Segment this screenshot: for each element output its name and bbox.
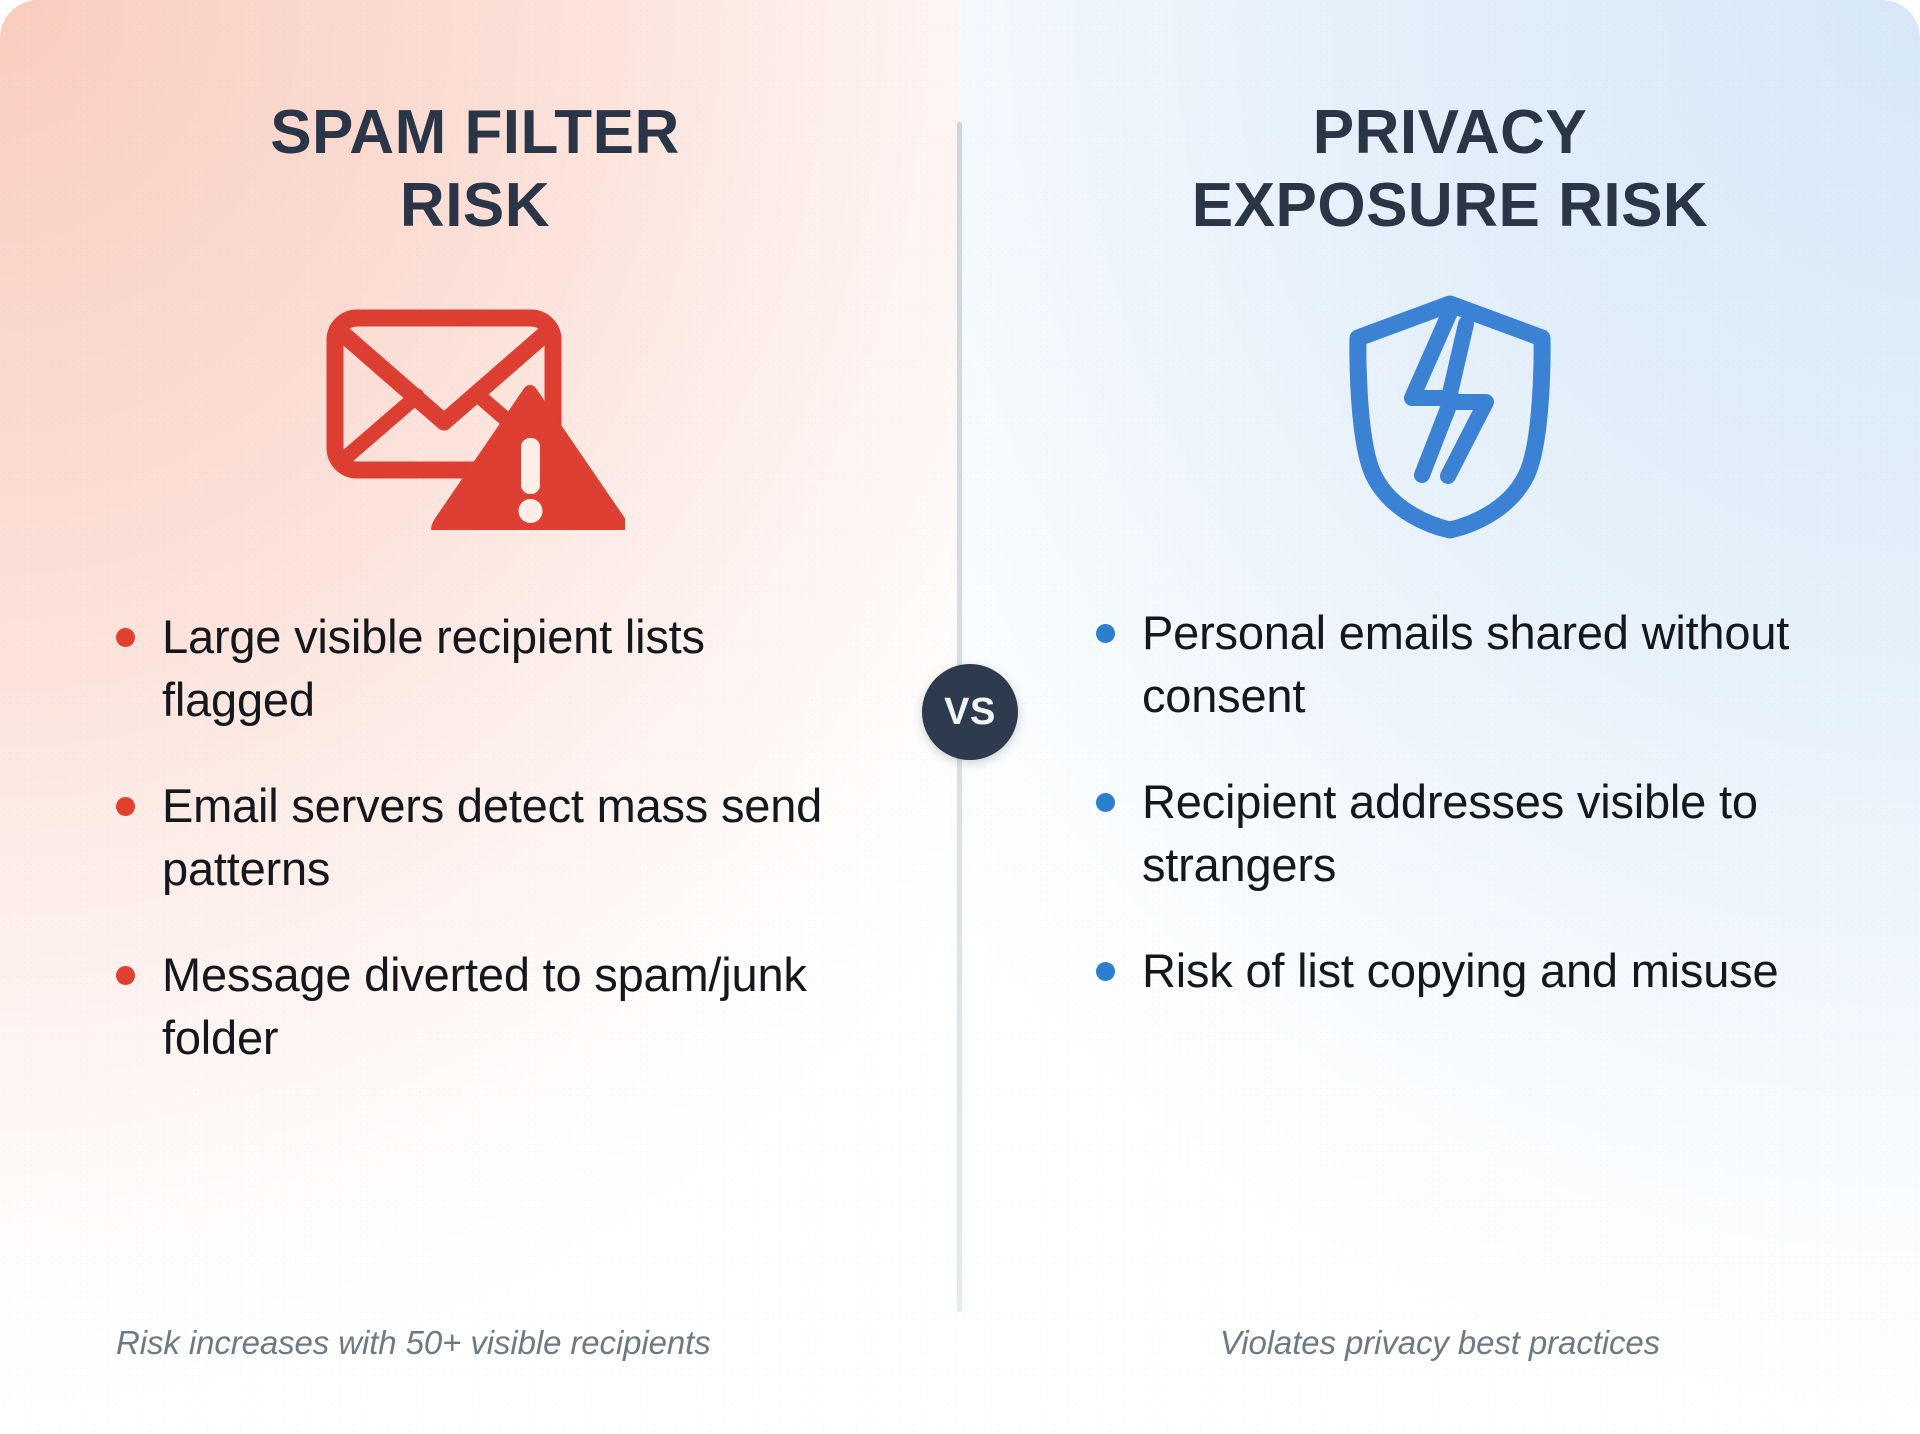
right-bullet-list: Personal emails shared without consent R… xyxy=(1090,602,1810,1003)
comparison-infographic: SPAM FILTER RISK Large visible recipi xyxy=(0,0,1920,1434)
bullet-dot-icon xyxy=(116,966,135,985)
list-item: Large visible recipient lists flagged xyxy=(110,606,840,731)
bullet-dot-icon xyxy=(1096,624,1115,643)
bullet-dot-icon xyxy=(116,797,135,816)
left-footnote: Risk increases with 50+ visible recipien… xyxy=(116,1324,711,1362)
bullet-dot-icon xyxy=(1096,962,1115,981)
bullet-text: Large visible recipient lists flagged xyxy=(162,610,705,726)
left-bullet-list: Large visible recipient lists flagged Em… xyxy=(110,606,840,1069)
list-item: Personal emails shared without consent xyxy=(1090,602,1810,727)
left-column-heading: SPAM FILTER RISK xyxy=(270,96,680,242)
right-footnote: Violates privacy best practices xyxy=(960,1324,1920,1362)
list-item: Message diverted to spam/junk folder xyxy=(110,944,840,1069)
bullet-dot-icon xyxy=(116,628,135,647)
bullet-text: Personal emails shared without consent xyxy=(1142,606,1789,722)
bullet-dot-icon xyxy=(1096,793,1115,812)
bullet-text: Email servers detect mass send patterns xyxy=(162,779,822,895)
bullet-text: Message diverted to spam/junk folder xyxy=(162,948,807,1064)
right-column-heading: PRIVACY EXPOSURE RISK xyxy=(1192,96,1708,242)
vs-badge: VS xyxy=(922,664,1018,760)
bullet-text: Recipient addresses visible to strangers xyxy=(1142,775,1758,891)
bullet-text: Risk of list copying and misuse xyxy=(1142,944,1778,997)
list-item: Risk of list copying and misuse xyxy=(1090,940,1810,1003)
spam-filter-risk-column: SPAM FILTER RISK Large visible recipi xyxy=(0,0,960,1434)
privacy-exposure-risk-column: PRIVACY EXPOSURE RISK Personal emails sh… xyxy=(960,0,1920,1434)
cracked-shield-icon xyxy=(1340,290,1560,540)
list-item: Recipient addresses visible to strangers xyxy=(1090,771,1810,896)
envelope-warning-icon xyxy=(325,290,625,540)
list-item: Email servers detect mass send patterns xyxy=(110,775,840,900)
